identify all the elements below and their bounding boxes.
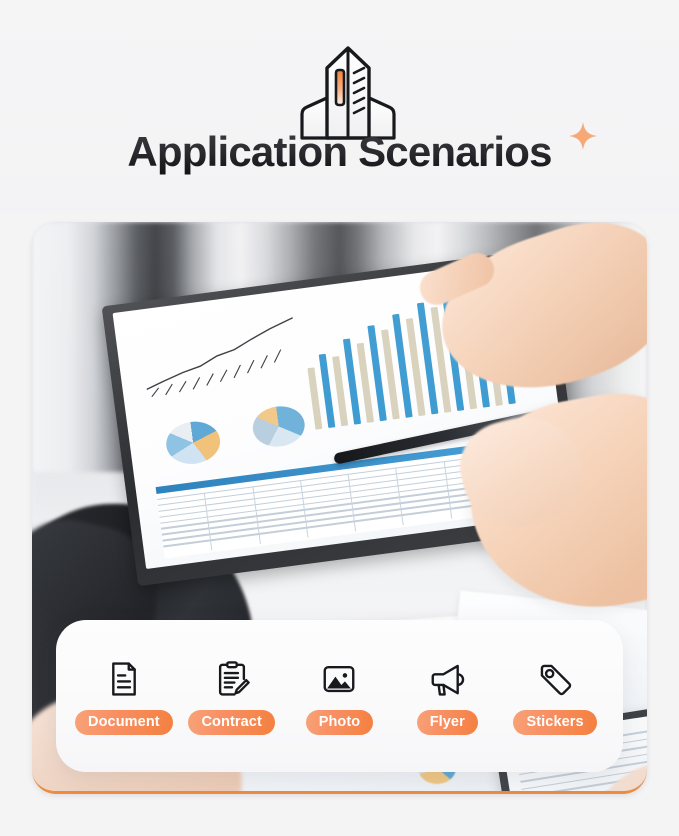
category-badge-stickers[interactable]: Stickers: [513, 710, 596, 736]
category-badge-contract[interactable]: Contract: [188, 710, 274, 736]
contract-clipboard-icon: [210, 657, 254, 701]
category-card: Document Contract Photo: [56, 620, 623, 772]
page-title: Application Scenarios: [127, 128, 551, 176]
category-item-document[interactable]: Document: [72, 657, 176, 736]
report-line-chart: [137, 311, 305, 401]
sparkle-icon: [567, 120, 599, 152]
category-badge-flyer[interactable]: Flyer: [417, 710, 478, 736]
category-item-contract[interactable]: Contract: [180, 657, 284, 736]
category-item-flyer[interactable]: Flyer: [395, 657, 499, 736]
category-badge-document[interactable]: Document: [75, 710, 173, 736]
category-badge-photo[interactable]: Photo: [306, 710, 374, 736]
document-icon: [102, 657, 146, 701]
megaphone-icon: [425, 657, 469, 701]
report-pie-chart: [250, 403, 307, 449]
tag-icon: [533, 657, 577, 701]
category-item-stickers[interactable]: Stickers: [503, 657, 607, 736]
office-building-icon: [296, 42, 400, 140]
page-header: Application Scenarios: [0, 0, 679, 214]
report-pie-chart: [164, 418, 223, 467]
category-item-photo[interactable]: Photo: [287, 657, 391, 736]
image-icon: [317, 657, 361, 701]
